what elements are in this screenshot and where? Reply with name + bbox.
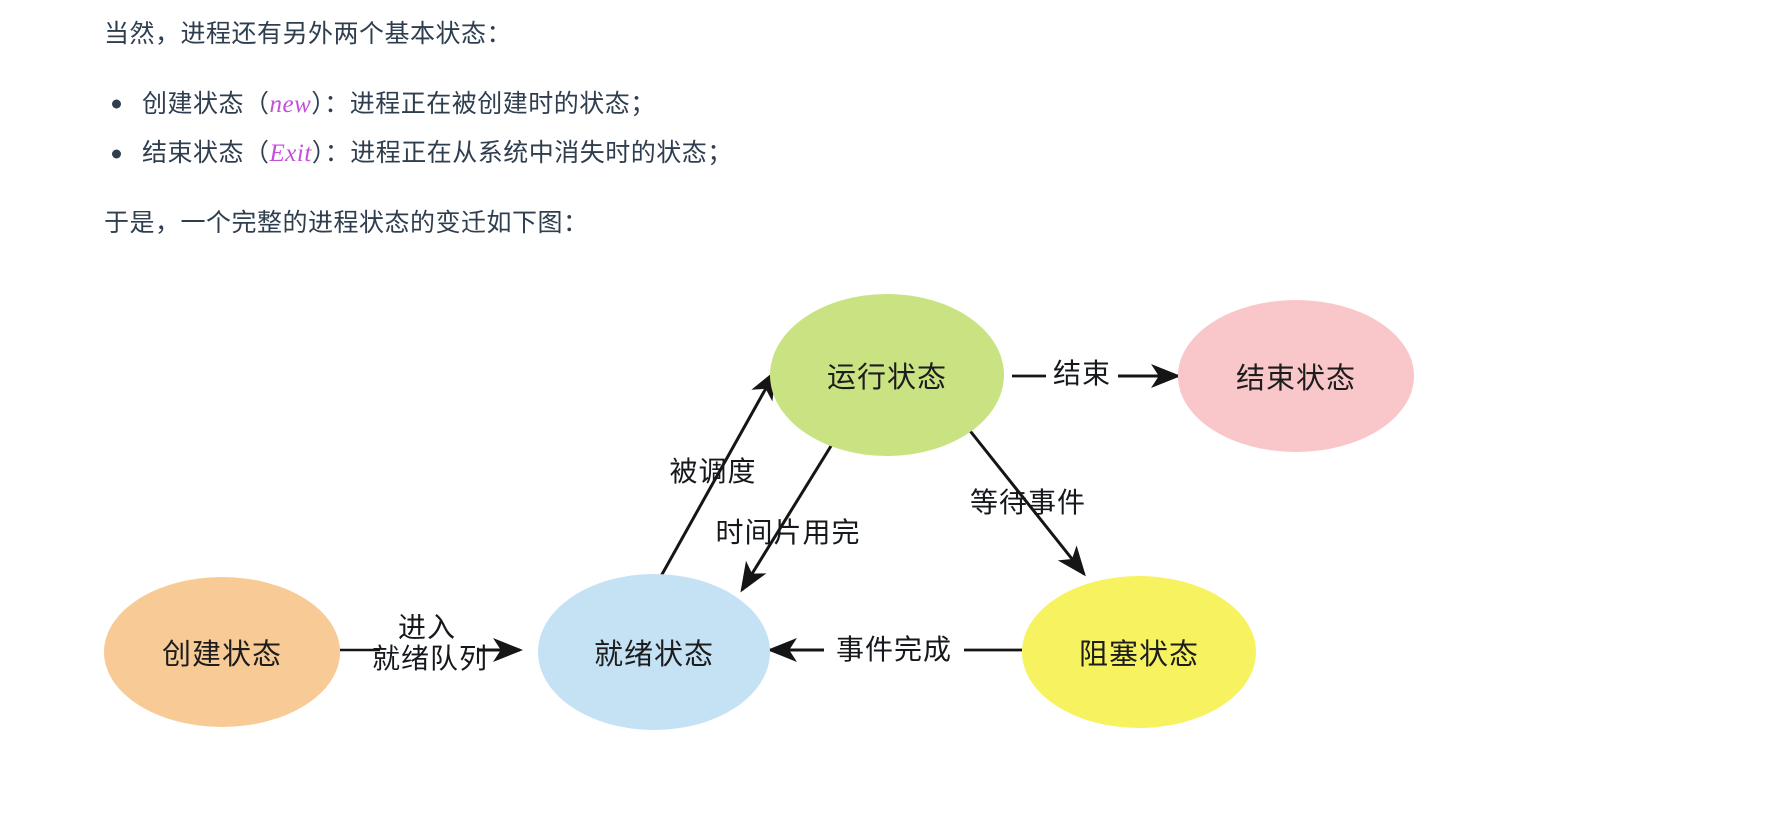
edge-label-finish: 结束	[1044, 358, 1120, 389]
edge-label-event-complete: 事件完成	[828, 634, 960, 665]
node-label: 运行状态	[827, 354, 947, 396]
node-running-state[interactable]: 运行状态	[770, 294, 1004, 456]
bullet-prefix: 结束状态（	[142, 139, 270, 167]
bullet-suffix: ）：进程正在从系统中消失时的状态；	[312, 139, 733, 167]
edge-label-wait-event: 等待事件	[962, 487, 1094, 518]
bullet-dot-icon	[112, 150, 121, 159]
node-blocked-state[interactable]: 阻塞状态	[1022, 576, 1256, 728]
process-state-transition-diagram: 运行状态 结束状态 创建状态 就绪状态 阻塞状态 进入 就绪队列 被调度 时间片…	[0, 272, 1771, 817]
bullet-suffix: ）：进程正在被创建时的状态；	[311, 90, 656, 118]
node-exit-state[interactable]: 结束状态	[1178, 300, 1414, 452]
edge-label-enter-ready-queue: 进入 就绪队列	[372, 612, 482, 675]
edge-label-scheduled: 被调度	[655, 456, 771, 487]
intro-paragraph: 当然，进程还有另外两个基本状态：	[104, 16, 1404, 54]
edge-label-timeslice-expired: 时间片用完	[706, 517, 870, 548]
bullet-keyword: new	[270, 91, 312, 118]
article-body: 当然，进程还有另外两个基本状态： 创建状态（new）：进程正在被创建时的状态； …	[104, 16, 1404, 269]
node-ready-state[interactable]: 就绪状态	[538, 574, 770, 730]
bullet-dot-icon	[112, 100, 121, 109]
outro-paragraph: 于是，一个完整的进程状态的变迁如下图：	[104, 205, 1404, 243]
state-bullet-list: 创建状态（new）：进程正在被创建时的状态； 结束状态（Exit）：进程正在从系…	[104, 80, 1404, 180]
node-new-state[interactable]: 创建状态	[104, 577, 340, 727]
bullet-prefix: 创建状态（	[142, 90, 270, 118]
node-label: 阻塞状态	[1079, 631, 1199, 673]
node-label: 创建状态	[162, 631, 282, 673]
node-label: 结束状态	[1236, 355, 1356, 397]
list-item: 创建状态（new）：进程正在被创建时的状态；	[104, 80, 1404, 130]
node-label: 就绪状态	[594, 631, 714, 673]
list-item: 结束状态（Exit）：进程正在从系统中消失时的状态；	[104, 129, 1404, 179]
bullet-keyword: Exit	[270, 140, 312, 167]
